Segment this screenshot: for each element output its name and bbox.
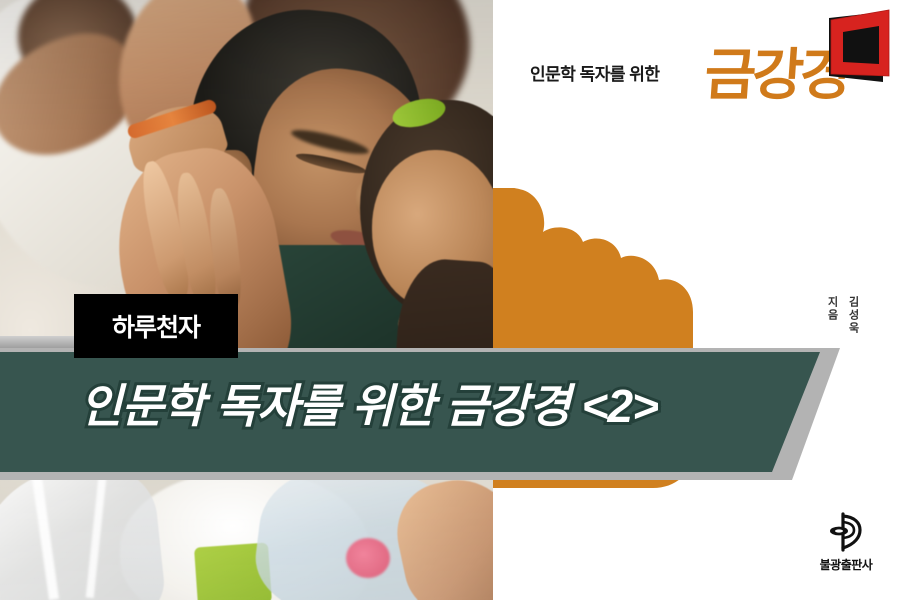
author-name: 김성욱 [847,296,858,335]
author-block: 지음 김성욱 [826,296,858,335]
bulkwang-symbol-icon [829,512,863,552]
publisher-name: 불광출판사 [820,556,873,573]
cover-title: 인문학 독자를 위한 금강경 <2> [80,370,658,436]
series-label-text: 하루천자 [112,308,200,344]
red-square-frame-icon [823,8,895,100]
author-role: 지음 [826,296,837,335]
header-subtitle: 인문학 독자를 위한 [530,60,660,85]
series-label-box: 하루천자 [74,294,238,358]
book-cover: 인문학 독자를 위한 금강경 <2> 하루천자 인문학 독자를 위한 금강경 지… [0,0,900,600]
publisher-block: 불광출판사 [798,512,894,573]
